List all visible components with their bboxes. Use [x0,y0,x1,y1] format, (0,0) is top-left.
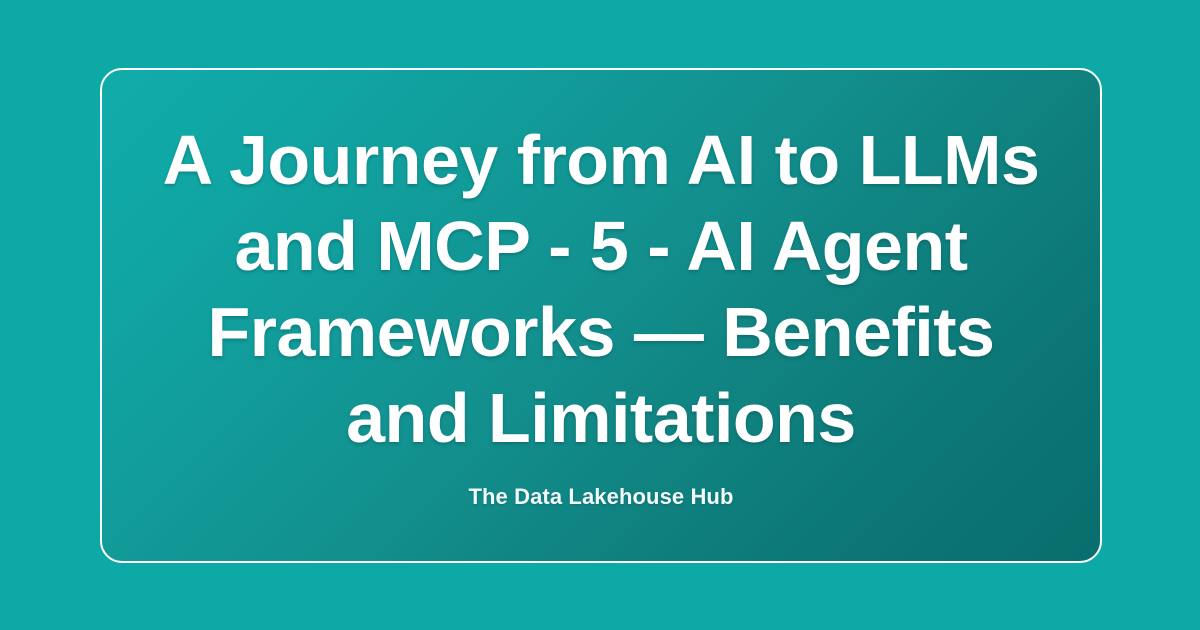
banner-card-content: A Journey from AI to LLMs and MCP - 5 - … [142,117,1060,511]
og-image-banner: A Journey from AI to LLMs and MCP - 5 - … [0,0,1200,630]
banner-card: A Journey from AI to LLMs and MCP - 5 - … [100,68,1102,563]
banner-title: A Journey from AI to LLMs and MCP - 5 - … [142,117,1060,461]
banner-subtitle: The Data Lakehouse Hub [142,461,1060,511]
